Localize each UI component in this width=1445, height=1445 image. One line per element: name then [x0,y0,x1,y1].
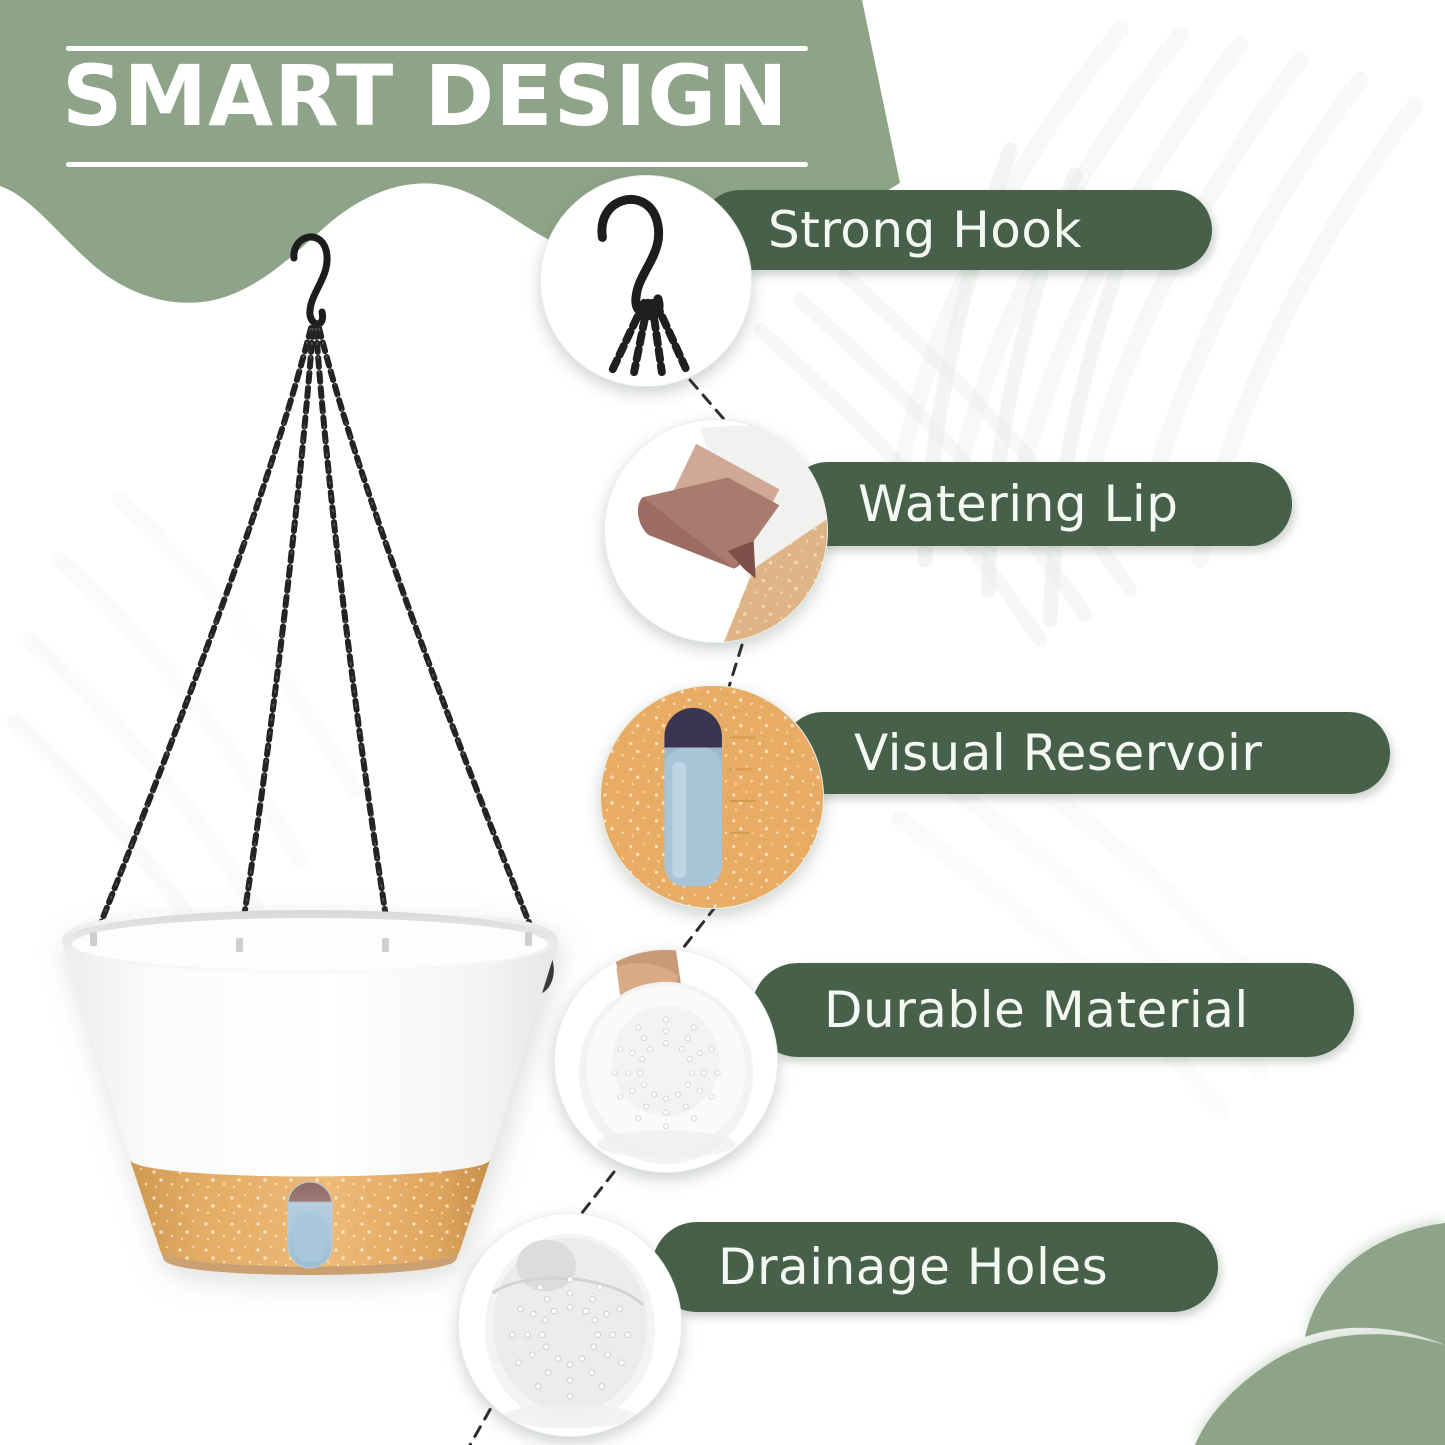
hook-chain-icon [541,176,751,386]
feature-label-pill-durable-material[interactable]: Durable Material [752,963,1354,1057]
infographic-canvas: SMART DESIGN [0,0,1445,1445]
feature-circle-drainage-holes[interactable] [458,1213,682,1437]
feature-label-pill-visual-reservoir[interactable]: Visual Reservoir [782,712,1390,794]
feature-label-visual-reservoir: Visual Reservoir [854,724,1262,782]
feature-circle-strong-hook[interactable] [540,175,752,387]
feature-label-drainage-holes: Drainage Holes [718,1238,1108,1296]
connector-material-to-drainage [578,1172,614,1218]
connector-lip-to-reservoir [728,645,742,690]
feature-label-pill-strong-hook[interactable]: Strong Hook [700,190,1212,270]
feature-label-durable-material: Durable Material [824,981,1249,1039]
connector-reservoir-to-material [680,906,716,952]
feature-label-pill-drainage-holes[interactable]: Drainage Holes [652,1222,1218,1312]
feature-label-watering-lip: Watering Lip [858,475,1179,533]
feature-circle-watering-lip[interactable] [604,419,828,643]
feature-circle-durable-material[interactable] [554,949,778,1173]
perforated-insert-hand-icon [555,950,777,1172]
feature-label-strong-hook: Strong Hook [768,201,1082,259]
watering-lip-icon [605,420,827,642]
drainage-disc-icon [459,1214,681,1436]
feature-label-pill-watering-lip[interactable]: Watering Lip [786,462,1292,546]
reservoir-gauge-icon [601,686,823,908]
feature-circle-visual-reservoir[interactable] [600,685,824,909]
